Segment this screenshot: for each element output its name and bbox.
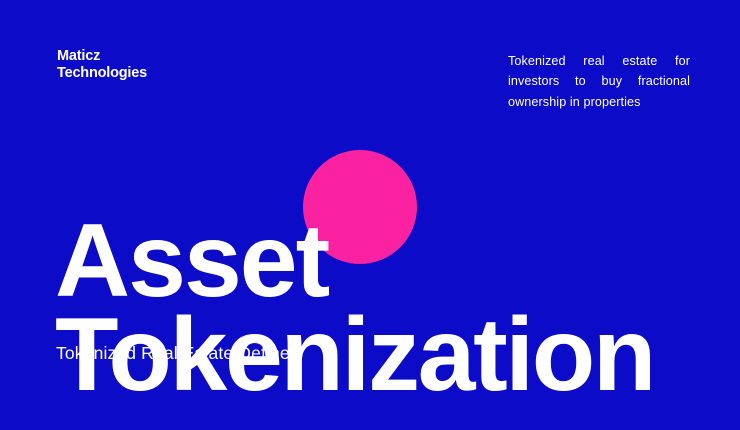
brand-logo[interactable]: Maticz Technologies bbox=[57, 48, 147, 82]
brand-name-line-1: Maticz bbox=[57, 48, 147, 65]
tagline-text: Tokenized real estate for investors to b… bbox=[508, 51, 690, 112]
subtitle-text: Tokenized Real Estate Defined bbox=[56, 343, 300, 364]
banner-canvas: Maticz Technologies Tokenized real estat… bbox=[0, 0, 740, 430]
brand-name-line-2: Technologies bbox=[57, 65, 147, 82]
page-title: Asset Tokenization bbox=[55, 212, 654, 406]
